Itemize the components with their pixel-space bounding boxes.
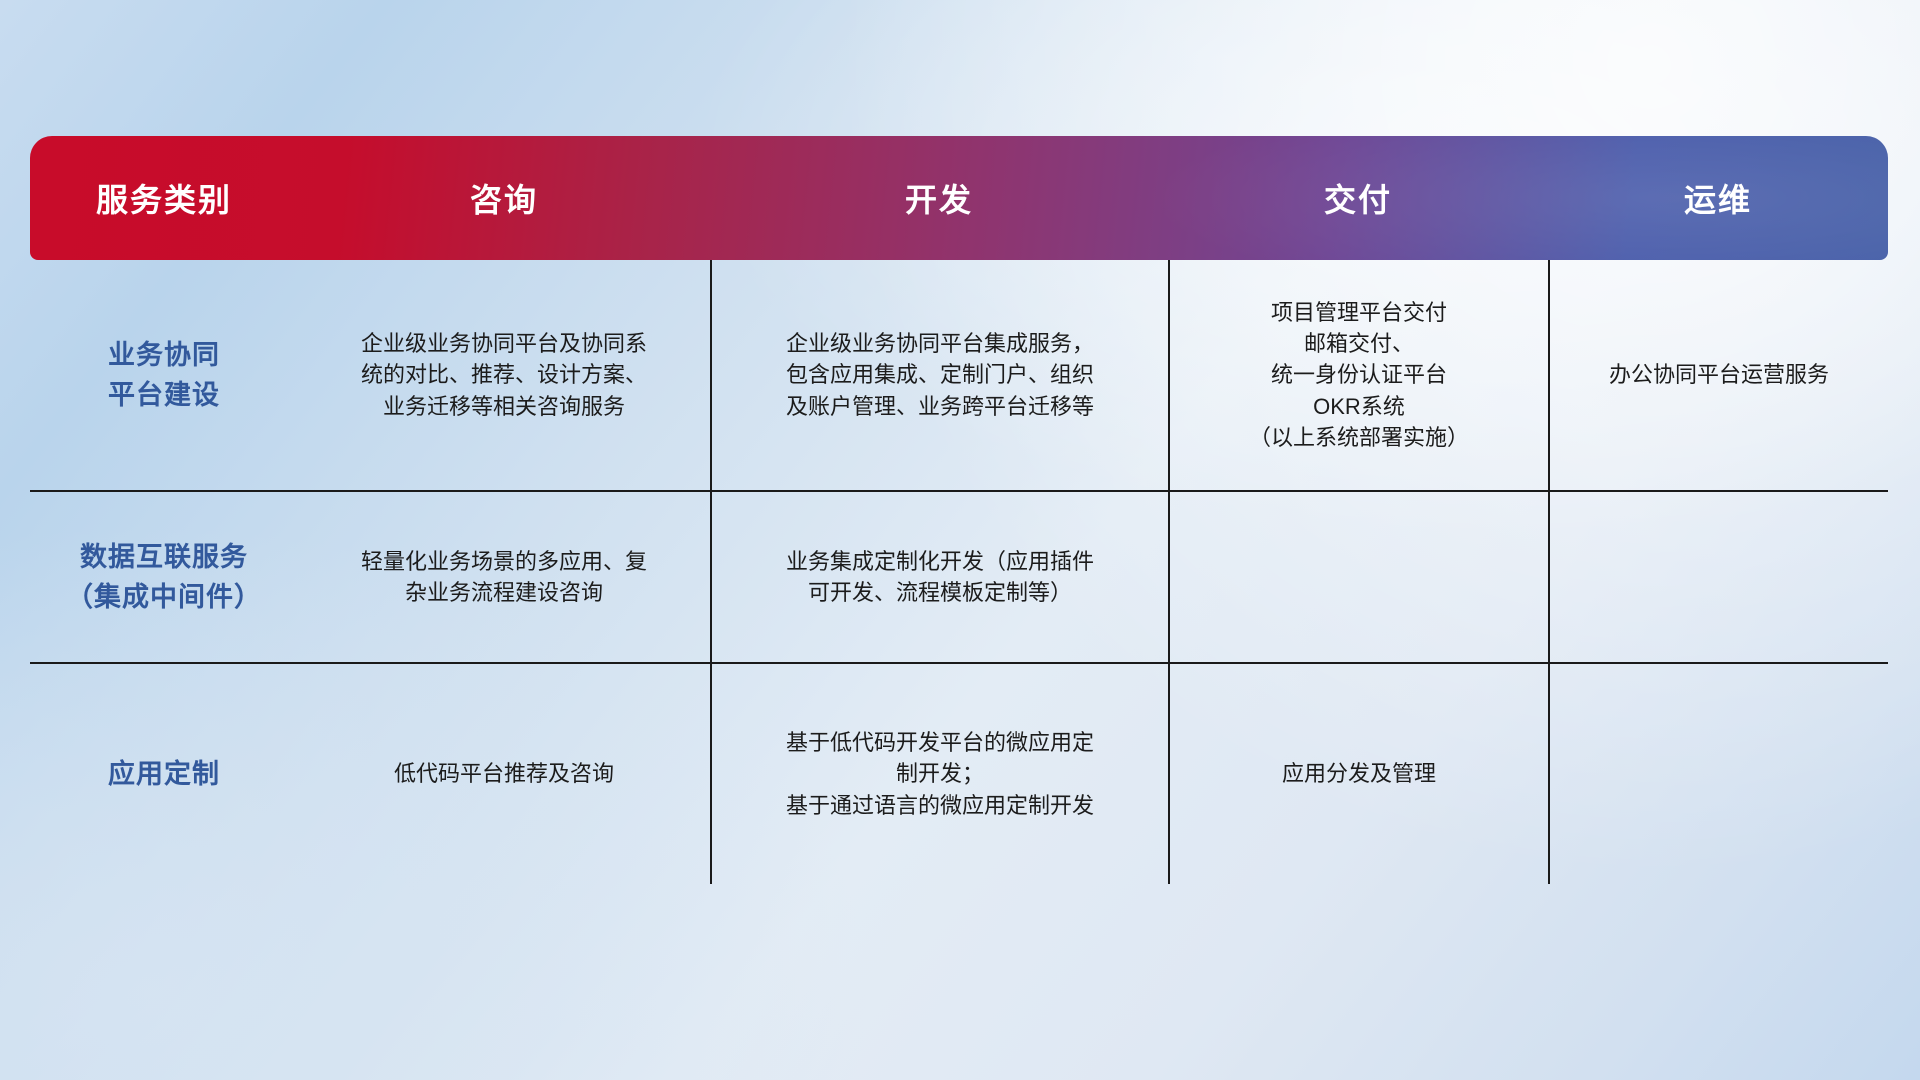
cell-delivery <box>1168 492 1548 662</box>
cell-development: 企业级业务协同平台集成服务， 包含应用集成、定制门户、组织 及账户管理、业务跨平… <box>710 260 1168 490</box>
table-row: 数据互联服务 （集成中间件） 轻量化业务场景的多应用、复 杂业务流程建设咨询 业… <box>30 492 1888 664</box>
column-header-delivery: 交付 <box>1168 175 1548 221</box>
column-header-service-category: 服务类别 <box>30 175 298 221</box>
table-header-row: 服务类别 咨询 开发 交付 运维 <box>30 136 1888 260</box>
cell-delivery: 项目管理平台交付 邮箱交付、 统一身份认证平台 OKR系统 （以上系统部署实施） <box>1168 260 1548 490</box>
cell-operations <box>1548 492 1888 662</box>
row-category-label: 数据互联服务 （集成中间件） <box>30 492 298 662</box>
table-body: 业务协同 平台建设 企业级业务协同平台及协同系 统的对比、推荐、设计方案、 业务… <box>30 260 1888 884</box>
cell-delivery: 应用分发及管理 <box>1168 664 1548 884</box>
table-row: 业务协同 平台建设 企业级业务协同平台及协同系 统的对比、推荐、设计方案、 业务… <box>30 260 1888 492</box>
column-header-development: 开发 <box>710 175 1168 221</box>
cell-consulting: 轻量化业务场景的多应用、复 杂业务流程建设咨询 <box>298 492 710 662</box>
column-header-operations: 运维 <box>1548 175 1888 221</box>
cell-development: 业务集成定制化开发（应用插件 可开发、流程模板定制等） <box>710 492 1168 662</box>
cell-operations <box>1548 664 1888 884</box>
row-category-label: 业务协同 平台建设 <box>30 260 298 490</box>
cell-development: 基于低代码开发平台的微应用定 制开发； 基于通过语言的微应用定制开发 <box>710 664 1168 884</box>
column-header-consulting: 咨询 <box>298 175 710 221</box>
cell-consulting: 低代码平台推荐及咨询 <box>298 664 710 884</box>
table-row: 应用定制 低代码平台推荐及咨询 基于低代码开发平台的微应用定 制开发； 基于通过… <box>30 664 1888 884</box>
service-matrix-table: 服务类别 咨询 开发 交付 运维 业务协同 平台建设 企业级业务协同平台及协同系… <box>30 136 1888 956</box>
cell-operations: 办公协同平台运营服务 <box>1548 260 1888 490</box>
cell-consulting: 企业级业务协同平台及协同系 统的对比、推荐、设计方案、 业务迁移等相关咨询服务 <box>298 260 710 490</box>
row-category-label: 应用定制 <box>30 664 298 884</box>
